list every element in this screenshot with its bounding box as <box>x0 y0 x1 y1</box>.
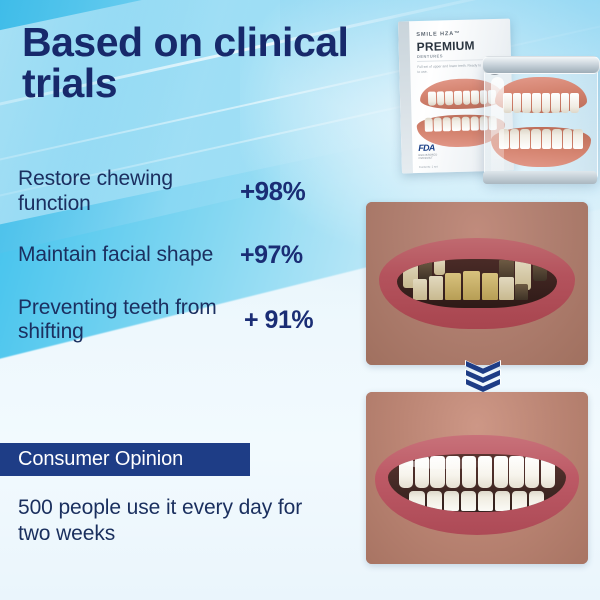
product-box-spine <box>398 21 413 173</box>
teeth-shine <box>406 459 488 470</box>
consumer-opinion-body: 500 people use it every day for two week… <box>18 495 338 548</box>
benefit-label: Maintain facial shape <box>18 243 240 268</box>
tooth <box>445 91 453 105</box>
tooth <box>434 117 442 131</box>
page-title: Based on clinical trials <box>22 22 372 104</box>
tooth <box>409 491 425 511</box>
jar-glass <box>484 62 598 182</box>
mouth-interior <box>388 454 566 512</box>
tooth <box>542 129 552 149</box>
lower-teeth <box>409 491 544 511</box>
tooth <box>445 273 461 300</box>
tooth <box>570 93 579 113</box>
tooth <box>551 93 560 113</box>
tooth <box>531 129 541 149</box>
tooth <box>542 93 551 113</box>
benefits-list: Restore chewing function +98% Maintain f… <box>18 167 358 345</box>
consumer-opinion-banner: Consumer Opinion <box>0 443 250 476</box>
tooth <box>563 129 573 149</box>
jar-highlight <box>491 77 504 177</box>
tooth <box>512 491 528 511</box>
tooth <box>470 116 478 130</box>
mouth-interior <box>397 259 557 308</box>
upper-teeth <box>503 93 579 113</box>
product-title: PREMIUM <box>417 38 475 54</box>
tooth <box>533 260 547 281</box>
tooth <box>503 93 512 113</box>
product-brand: SMILE HZA™ <box>416 31 460 38</box>
fda-badge-icon: FDA REGISTERED PRODUCT <box>418 143 448 162</box>
fda-sublabel: REGISTERED PRODUCT <box>419 153 449 160</box>
tooth <box>532 93 541 113</box>
tooth <box>529 491 545 511</box>
benefit-row: Preventing teeth from shifting + 91% <box>18 296 358 346</box>
tooth <box>444 491 460 511</box>
benefit-row: Restore chewing function +98% <box>18 167 358 217</box>
jar-base <box>483 171 597 184</box>
fda-label: FDA <box>418 143 448 153</box>
tooth <box>463 271 481 300</box>
benefit-percent: +98% <box>240 176 305 207</box>
tooth <box>509 456 523 488</box>
damaged-teeth <box>397 259 557 308</box>
before-photo <box>366 202 588 365</box>
product-image: SMILE HZA™ PREMIUM DENTURES Full set of … <box>392 12 600 192</box>
tooth <box>413 279 427 301</box>
tooth <box>525 456 539 488</box>
tooth <box>520 129 530 149</box>
tooth <box>522 93 531 113</box>
denture-jar <box>484 54 596 182</box>
product-footer: Contents: 1 set <box>419 165 438 169</box>
tooth <box>478 491 494 511</box>
after-photo <box>366 392 588 564</box>
tooth <box>495 491 511 511</box>
benefit-percent: +97% <box>240 241 303 270</box>
jar-lid <box>482 56 600 74</box>
tooth <box>510 129 520 149</box>
tooth <box>461 117 469 131</box>
consumer-opinion-label: Consumer Opinion <box>18 448 183 471</box>
tooth <box>454 91 462 105</box>
tooth <box>552 129 562 149</box>
tooth <box>462 91 470 105</box>
tooth <box>541 456 555 488</box>
tooth <box>425 118 433 132</box>
tooth <box>513 93 522 113</box>
tooth <box>461 491 477 511</box>
lower-teeth <box>499 129 583 149</box>
tooth <box>437 91 445 105</box>
product-subtitle: DENTURES <box>417 53 443 59</box>
tooth <box>434 260 445 275</box>
downward-chevrons-icon <box>466 361 500 393</box>
tooth <box>471 90 479 104</box>
tooth <box>561 93 570 113</box>
tooth <box>494 456 508 488</box>
tooth <box>452 117 460 131</box>
tooth <box>429 276 443 300</box>
tooth <box>515 284 528 301</box>
tooth <box>428 92 436 106</box>
tooth <box>499 277 513 300</box>
tooth <box>482 273 498 300</box>
tooth <box>443 117 451 131</box>
benefit-percent: + 91% <box>244 306 313 335</box>
benefit-label: Restore chewing function <box>18 167 240 217</box>
benefit-row: Maintain facial shape +97% <box>18 241 358 270</box>
benefit-label: Preventing teeth from shifting <box>18 296 244 346</box>
tooth <box>573 129 583 149</box>
ad-canvas: Based on clinical trials Restore chewing… <box>0 0 600 600</box>
tooth <box>427 491 443 511</box>
